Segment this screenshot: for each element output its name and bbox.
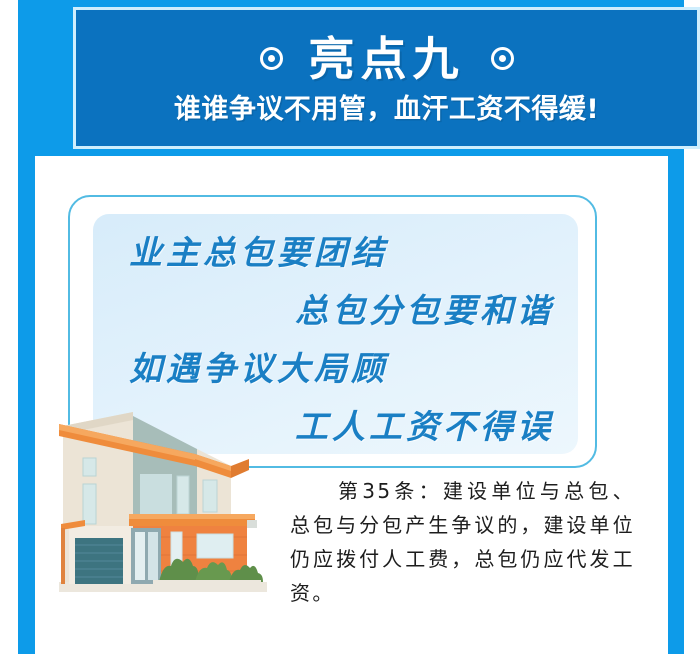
- page-subtitle: 谁谁争议不用管，血汗工资不得缓!: [174, 96, 599, 123]
- clause-paragraph: 第35条：建设单位与总包、总包与分包产生争议的，建设单位仍应拨付人工费，总包仍应…: [290, 474, 635, 610]
- ring-ornament-right-icon: [491, 47, 514, 70]
- poem-line-1: 业主总包要团结: [107, 224, 564, 282]
- header-banner-inner: 亮点九 谁谁争议不用管，血汗工资不得缓!: [73, 7, 700, 149]
- poem-line-2: 总包分包要和谐: [107, 282, 564, 340]
- house-illustration-icon: [45, 404, 285, 610]
- body-area: 业主总包要团结 总包分包要和谐 如遇争议大局顾 工人工资不得误: [35, 156, 668, 654]
- poem-line-3: 如遇争议大局顾: [107, 340, 564, 398]
- header-banner: 亮点九 谁谁争议不用管，血汗工资不得缓!: [35, 0, 668, 156]
- title-row: 亮点九: [260, 36, 514, 82]
- ring-ornament-left-icon: [260, 47, 283, 70]
- page-title: 亮点九: [309, 36, 465, 82]
- poster-root: 亮点九 谁谁争议不用管，血汗工资不得缓! 业主总包要团结 总包分包要和谐 如遇争…: [0, 0, 700, 654]
- left-accent-bar: [18, 0, 35, 654]
